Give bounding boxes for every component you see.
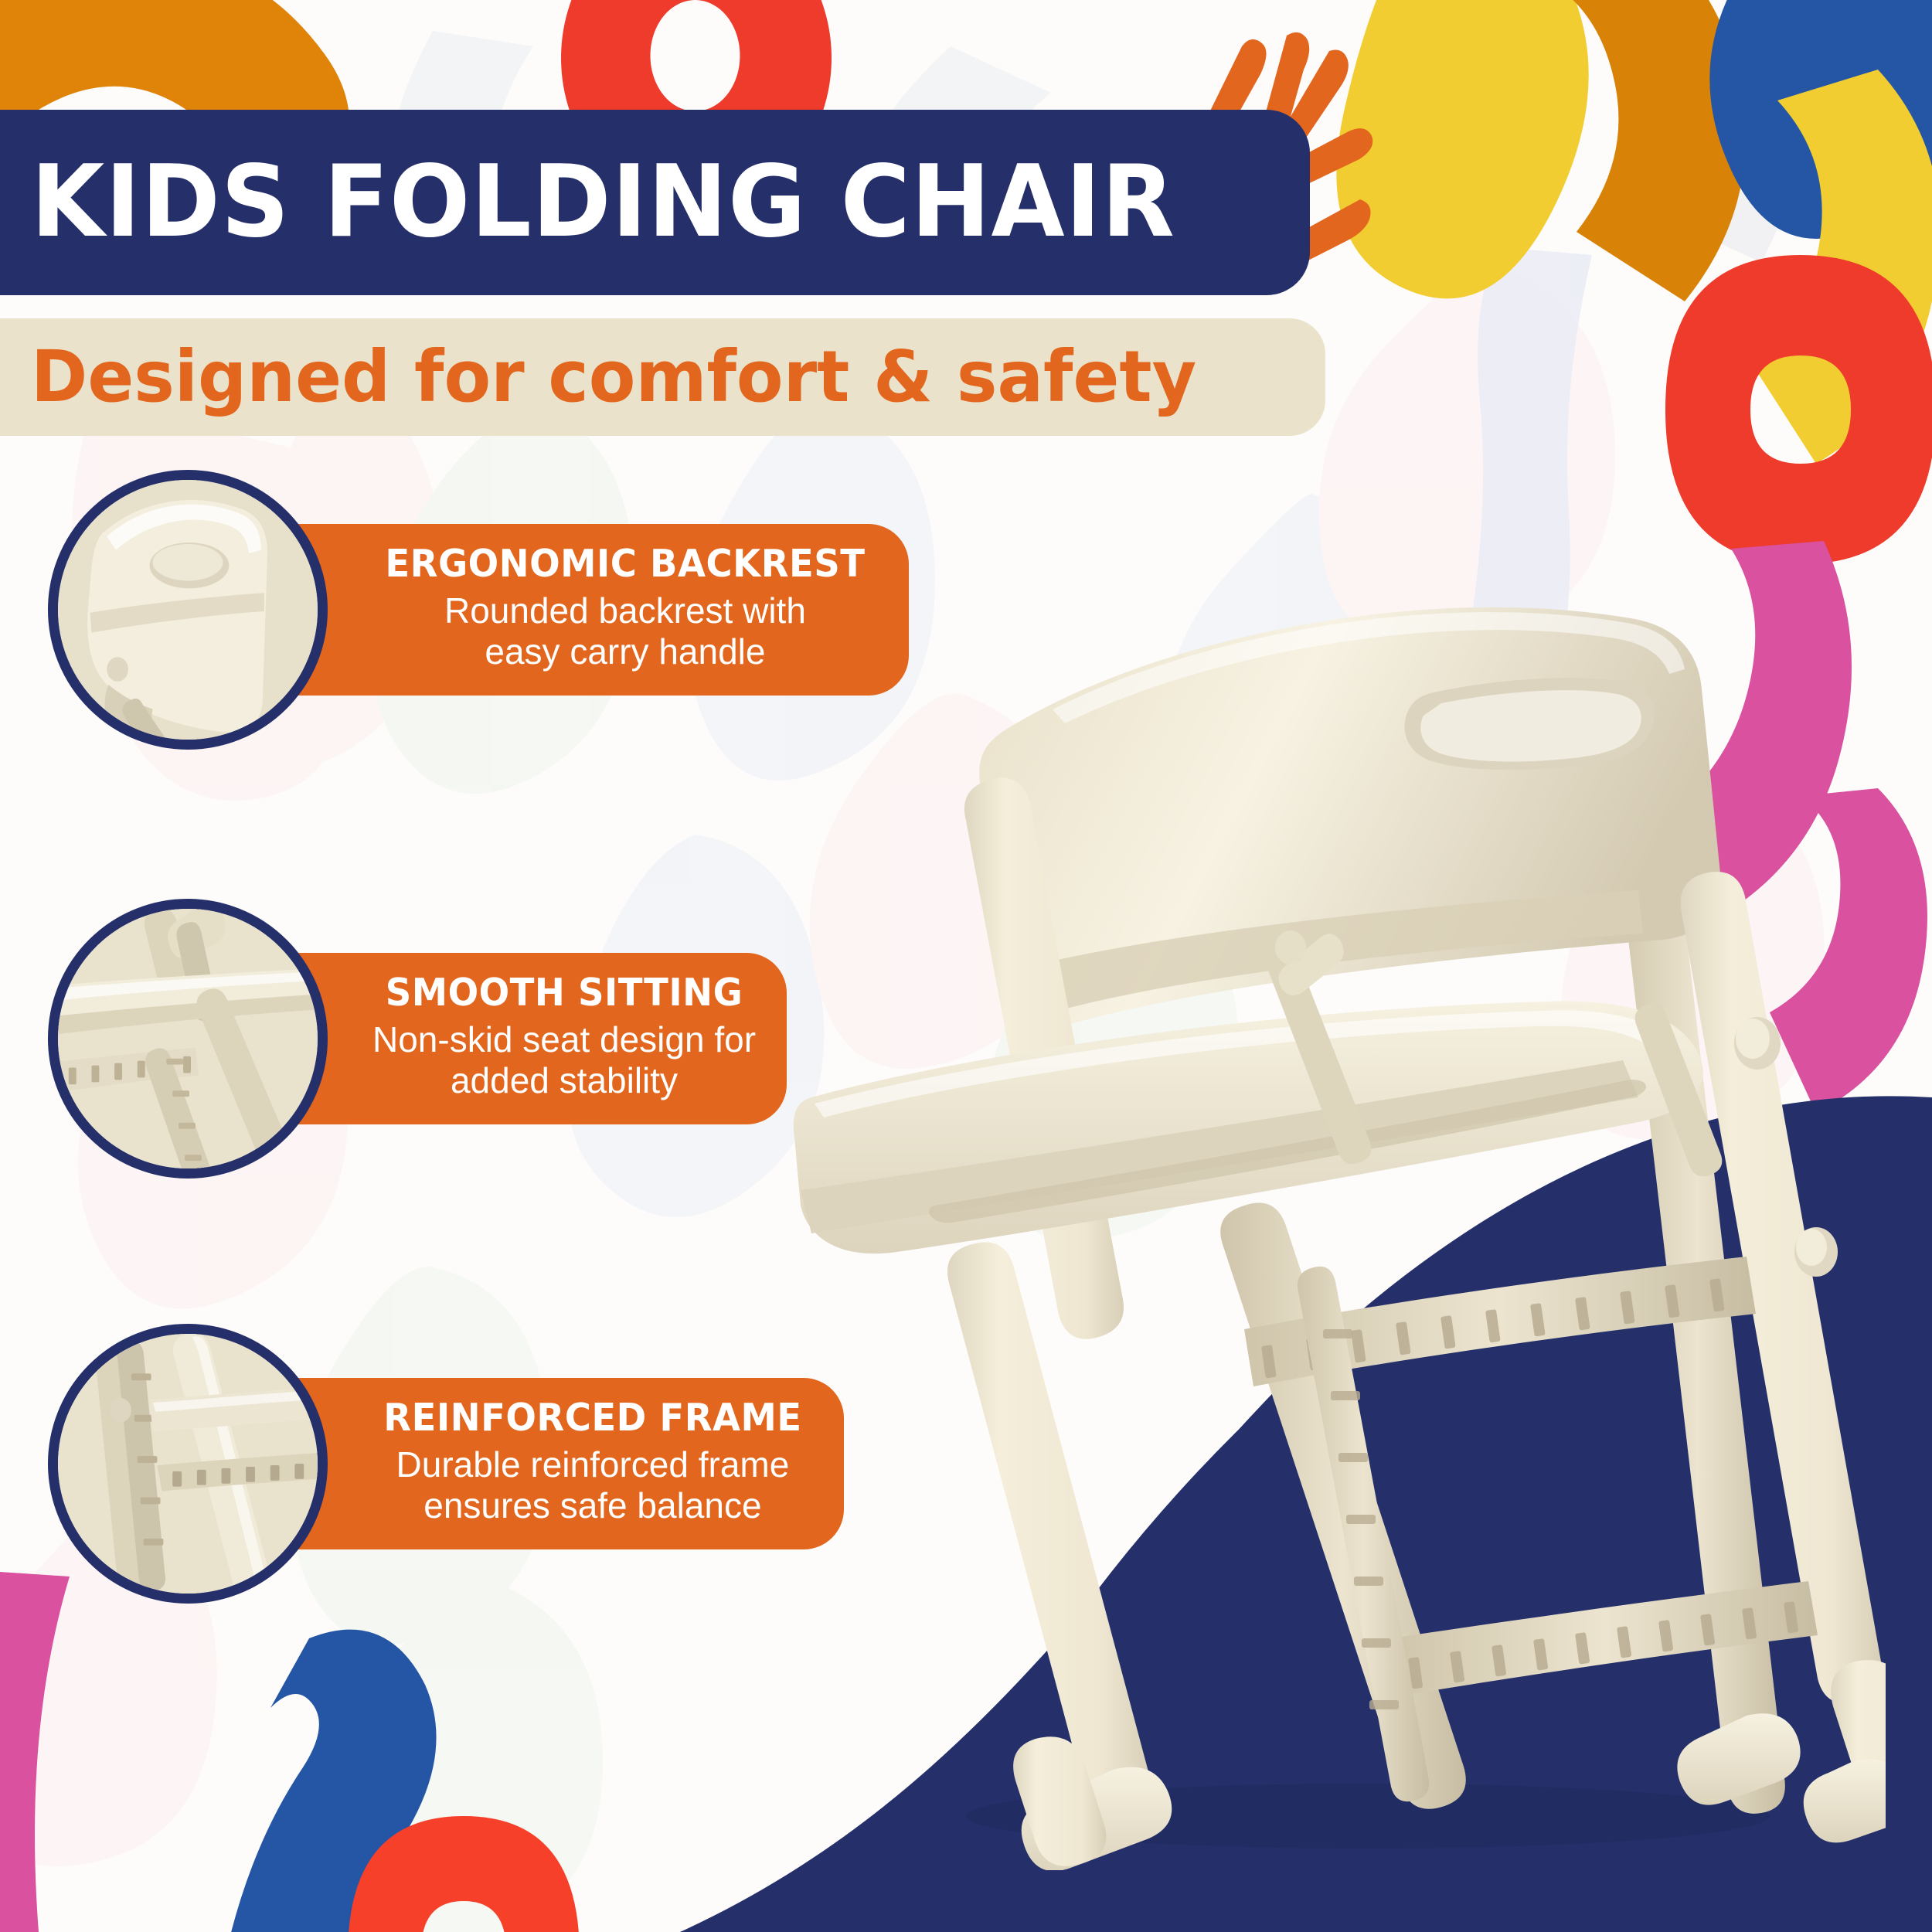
feature-ergonomic-backrest: ERGONOMIC BACKREST Rounded backrest with… [48, 470, 909, 750]
feature-callout-backrest: ERGONOMIC BACKREST Rounded backrest with… [292, 524, 909, 696]
feature-smooth-sitting: SMOOTH SITTING Non-skid seat design for … [48, 899, 787, 1179]
feature-detail-circle-seat [48, 899, 328, 1179]
feature-desc-line-1: Rounded backrest with [372, 590, 878, 631]
feature-title: REINFORCED FRAME [383, 1398, 801, 1438]
feature-callout-frame: REINFORCED FRAME Durable reinforced fram… [292, 1378, 844, 1550]
feature-reinforced-frame: REINFORCED FRAME Durable reinforced fram… [48, 1324, 844, 1604]
page-subtitle-banner: Designed for comfort & safety [0, 318, 1325, 436]
infographic-canvas: KIDS FOLDING CHAIR Designed for comfort … [0, 0, 1932, 1932]
feature-desc-line-1: Non-skid seat design for [372, 1019, 756, 1060]
feature-detail-circle-backrest [48, 470, 328, 750]
feature-desc-line-2: easy carry handle [372, 631, 878, 672]
page-title: KIDS FOLDING CHAIR [31, 153, 1175, 252]
feature-title: SMOOTH SITTING [382, 973, 746, 1013]
feature-desc-line-2: added stability [372, 1060, 756, 1101]
product-image-chair [781, 510, 1886, 1870]
feature-callout-seat: SMOOTH SITTING Non-skid seat design for … [292, 953, 787, 1125]
feature-desc-line-1: Durable reinforced frame [372, 1444, 813, 1485]
page-title-banner: KIDS FOLDING CHAIR [0, 110, 1310, 295]
feature-detail-circle-frame [48, 1324, 328, 1604]
page-subtitle: Designed for comfort & safety [31, 342, 1196, 413]
feature-desc-line-2: ensures safe balance [372, 1485, 813, 1526]
feature-title: ERGONOMIC BACKREST [385, 544, 865, 584]
